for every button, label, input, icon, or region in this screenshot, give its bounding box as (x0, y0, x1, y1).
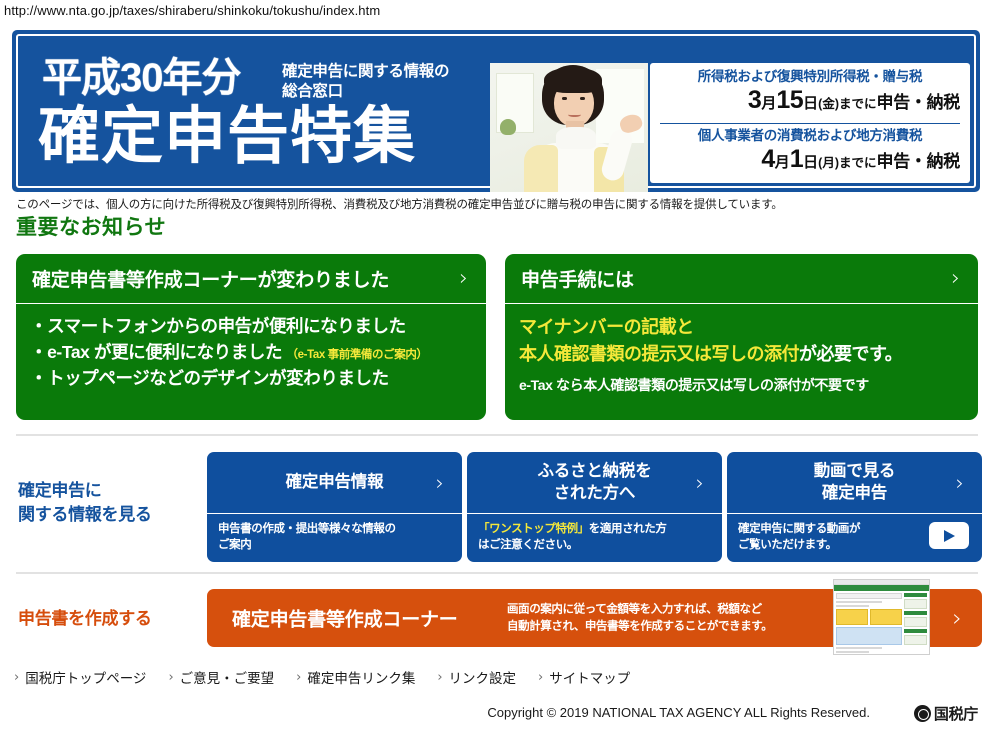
play-video-icon[interactable] (929, 522, 969, 549)
thumb-sidebar-box (904, 635, 927, 645)
deadline-day-unit: 日 (803, 154, 818, 171)
footer-link-feedback[interactable]: › ご意見・ご要望 (168, 667, 274, 687)
card-header[interactable]: 確定申告情報 › (207, 452, 462, 514)
section-divider (16, 572, 978, 574)
footer-link-label: 国税庁トップページ (25, 667, 146, 687)
thumb-text-line (836, 601, 882, 603)
footer-link-top-page[interactable]: › 国税庁トップページ (14, 667, 146, 687)
notice-highlight-tail: が必要です。 (799, 344, 902, 364)
card-description: 申告書の作成・提出等様々な情報の ご案内 (218, 521, 451, 554)
banner-desc-line1: 画面の案内に従って金額等を入力すれば、税額など (507, 603, 762, 615)
notice-body: マイナンバーの記載と 本人確認書類の提示又は写しの添付が必要です。 e-Tax … (505, 304, 978, 395)
card-body: 確定申告に関する動画が ご覧いただけます。 (727, 514, 982, 562)
notice-highlight-line2: 本人確認書類の提示又は写しの添付が必要です。 (519, 341, 964, 368)
chevron-right-icon: › (956, 471, 964, 495)
photo-eye-right (580, 97, 585, 100)
photo-cardigan-left (524, 145, 558, 192)
card-desc-line1: を適用された方 (589, 523, 667, 535)
card-title: ふるさと納税を された方へ (537, 461, 651, 503)
hero-subtitle-line2: 総合窓口 (282, 82, 449, 102)
deadline-heading: 所得税および復興特別所得税・贈与税 (660, 68, 960, 86)
thumb-text-line (836, 605, 869, 607)
footer-link-label: 確定申告リンク集 (307, 667, 415, 687)
card-title-line1: ふるさと納税を (537, 462, 651, 480)
footer-link-label: ご意見・ご要望 (180, 667, 275, 687)
chevron-right-icon: › (296, 670, 301, 685)
agency-seal-icon (914, 705, 931, 722)
deadline-weekday: (金) (818, 97, 839, 111)
thumb-sidebar-box (904, 599, 927, 609)
deadline-item-income-tax: 所得税および復興特別所得税・贈与税 3月15日(金)までに申告・納税 (660, 68, 960, 123)
banner-description: 画面の案内に従って金額等を入力すれば、税額など 自動計算され、申告書等を作成する… (507, 601, 772, 634)
intro-paragraph: このページでは、個人の方に向けた所得税及び復興特別所得税、消費税及び地方消費税の… (16, 196, 783, 212)
card-desc-line1: 確定申告に関する動画が (738, 523, 860, 535)
card-body: 申告書の作成・提出等様々な情報の ご案内 (207, 514, 462, 562)
chevron-right-icon: › (14, 670, 19, 685)
footer-link-related-links[interactable]: › 確定申告リンク集 (296, 667, 415, 687)
deadline-month: 4 (761, 145, 774, 173)
card-desc-line2: ご案内 (218, 539, 251, 551)
card-desc-highlight: 「ワンストップ特例」 (478, 523, 589, 535)
thumb-text-line (836, 651, 869, 653)
notice-header[interactable]: 申告手続には › (505, 254, 978, 304)
notice-item: ・トップページなどのデザインが変わりました (30, 366, 472, 392)
footer-link-label: リンク設定 (449, 667, 517, 687)
deadline-date-line: 4月1日(月)までに申告・納税 (660, 146, 960, 172)
card-header[interactable]: 動画で見る 確定申告 › (727, 452, 982, 514)
photo-eye-left (562, 97, 567, 100)
chevron-right-icon: › (538, 670, 543, 685)
site-preview-thumbnail (833, 579, 930, 655)
deadline-day-unit: 日 (803, 95, 818, 112)
card-desc-line2: はご注意ください。 (478, 539, 578, 551)
notice-body: ・スマートフォンからの申告が便利になりました ・e-Tax が更に便利になりまし… (16, 304, 486, 392)
footer-link-label: サイトマップ (549, 667, 630, 687)
card-video-guide[interactable]: 動画で見る 確定申告 › 確定申告に関する動画が ご覧いただけます。 (727, 452, 982, 562)
card-title-line2: 確定申告 (822, 484, 887, 502)
deadline-day: 1 (790, 145, 803, 173)
chevron-right-icon: › (168, 670, 173, 685)
card-title-line1: 動画で見る (814, 462, 896, 480)
copyright-text: Copyright © 2019 NATIONAL TAX AGENCY ALL… (487, 705, 870, 720)
chevron-right-icon: › (696, 471, 704, 495)
hero-banner[interactable]: 平成30年分 確定申告に関する情報の 総合窓口 確定申告特集 所得税および復興特… (12, 30, 980, 192)
notice-highlight-line1: マイナンバーの記載と (519, 314, 964, 341)
footer-link-sitemap[interactable]: › サイトマップ (538, 667, 630, 687)
thumb-sidebar (904, 593, 927, 653)
card-header[interactable]: ふるさと納税を された方へ › (467, 452, 722, 514)
deadline-panel: 所得税および復興特別所得税・贈与税 3月15日(金)までに申告・納税 個人事業者… (650, 63, 970, 183)
hero-text-block: 平成30年分 確定申告に関する情報の 総合窓口 確定申告特集 (34, 44, 484, 179)
create-section-label: 申告書を作成する (18, 607, 152, 631)
cards-section-label: 確定申告に 関する情報を見る (18, 479, 152, 527)
card-title-line2: された方へ (554, 484, 636, 502)
notice-item-with-note: ・e-Tax が更に便利になりました （e-Tax 事前準備のご案内） (30, 340, 472, 366)
thumb-blue-panel (836, 627, 902, 645)
notice-highlight-strong: 本人確認書類の提示又は写しの添付 (519, 344, 799, 364)
deadline-action: 申告・納税 (877, 93, 961, 112)
notice-item-note: （e-Tax 事前準備のご案内） (287, 349, 428, 361)
hero-year: 平成30年分 (42, 58, 241, 98)
notice-card-filing-procedure[interactable]: 申告手続には › マイナンバーの記載と 本人確認書類の提示又は写しの添付が必要で… (505, 254, 978, 420)
card-title: 動画で見る 確定申告 (814, 461, 896, 503)
thumb-yellow-button (836, 609, 868, 625)
banner-desc-line2: 自動計算され、申告書等を作成することができます。 (507, 620, 772, 632)
banner-title: 確定申告書等作成コーナー (232, 605, 458, 632)
card-desc-line1: 申告書の作成・提出等様々な情報の (218, 523, 396, 535)
card-description: 「ワンストップ特例」を適用された方 はご注意ください。 (478, 521, 711, 554)
footer-link-list: › 国税庁トップページ › ご意見・ご要望 › 確定申告リンク集 › リンク設定… (14, 667, 630, 687)
deadline-heading: 個人事業者の消費税および地方消費税 (660, 127, 960, 145)
agency-name: 国税庁 (934, 703, 978, 724)
thumb-sidebar-header (904, 629, 927, 633)
card-tax-return-info[interactable]: 確定申告情報 › 申告書の作成・提出等様々な情報の ご案内 (207, 452, 462, 562)
thumb-content (834, 591, 929, 655)
cards-section-label-line1: 確定申告に (18, 479, 152, 503)
chevron-right-icon: › (951, 268, 960, 290)
deadline-action: 申告・納税 (877, 152, 961, 171)
notice-card-tax-return-corner[interactable]: 確定申告書等作成コーナーが変わりました › ・スマートフォンからの申告が便利にな… (16, 254, 486, 420)
notice-footnote: e-Tax なら本人確認書類の提示又は写しの添付が不要です (519, 375, 964, 395)
notice-title: 申告手続には (521, 265, 634, 292)
thumb-sidebar-box (904, 617, 927, 627)
chevron-right-icon: › (436, 471, 444, 495)
notice-item-text: ・e-Tax が更に便利になりました (30, 342, 282, 362)
deadline-month: 3 (748, 86, 761, 114)
deadline-weekday: (月) (818, 156, 839, 170)
cards-section-label-line2: 関する情報を見る (18, 503, 152, 527)
important-notice-heading: 重要なお知らせ (16, 211, 166, 241)
chevron-right-icon: › (459, 268, 468, 290)
notice-item: ・スマートフォンからの申告が便利になりました (30, 314, 472, 340)
deadline-tail: までに (839, 97, 877, 111)
chevron-right-icon: › (952, 604, 962, 632)
hero-subtitle: 確定申告に関する情報の 総合窓口 (282, 62, 449, 102)
thumb-sidebar-header (904, 593, 927, 597)
thumb-main-column (836, 593, 902, 653)
deadline-tail: までに (839, 156, 877, 170)
deadline-day: 15 (776, 86, 803, 114)
photo-turtleneck (556, 127, 596, 149)
hero-subtitle-line1: 確定申告に関する情報の (282, 62, 449, 82)
thumb-search-box (836, 593, 902, 599)
photo-hair-front (544, 67, 602, 93)
deadline-month-unit: 月 (761, 95, 776, 112)
thumb-text-line (836, 647, 882, 649)
notice-header[interactable]: 確定申告書等作成コーナーが変わりました › (16, 254, 486, 304)
hero-title: 確定申告特集 (38, 106, 416, 168)
nta-agency-logo: 国税庁 (914, 703, 978, 724)
section-divider (16, 434, 978, 436)
photo-plant (500, 119, 516, 135)
chevron-right-icon: › (437, 670, 442, 685)
thumb-yellow-button (870, 609, 902, 625)
notice-title: 確定申告書等作成コーナーが変わりました (32, 265, 389, 292)
deadline-item-consumption-tax: 個人事業者の消費税および地方消費税 4月1日(月)までに申告・納税 (660, 123, 960, 178)
card-title: 確定申告情報 (286, 472, 384, 493)
deadline-date-line: 3月15日(金)までに申告・納税 (660, 87, 960, 113)
card-furusato-nozei[interactable]: ふるさと納税を された方へ › 「ワンストップ特例」を適用された方 はご注意くだ… (467, 452, 722, 562)
deadline-month-unit: 月 (775, 154, 790, 171)
hero-photo (490, 63, 648, 192)
footer-link-link-policy[interactable]: › リンク設定 (437, 667, 516, 687)
card-desc-line2: ご覧いただけます。 (738, 539, 837, 551)
browser-url-bar[interactable]: http://www.nta.go.jp/taxes/shiraberu/shi… (0, 0, 992, 22)
thumb-button-row (836, 609, 902, 625)
photo-smile (568, 111, 581, 117)
thumb-sidebar-header (904, 611, 927, 615)
card-body: 「ワンストップ特例」を適用された方 はご注意ください。 (467, 514, 722, 562)
